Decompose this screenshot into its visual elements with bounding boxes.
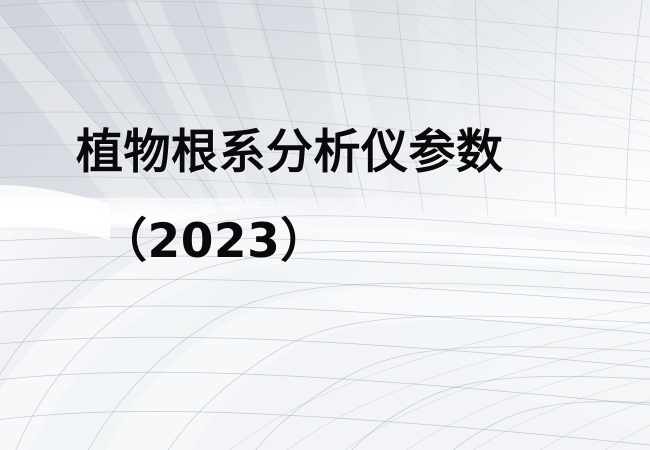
slide-title-block: 植物根系分析仪参数 （2023） bbox=[0, 0, 650, 450]
page-subtitle-year: （2023） bbox=[100, 212, 328, 272]
page-title: 植物根系分析仪参数 bbox=[76, 123, 504, 183]
slide-canvas: 植物根系分析仪参数 （2023） bbox=[0, 0, 650, 450]
